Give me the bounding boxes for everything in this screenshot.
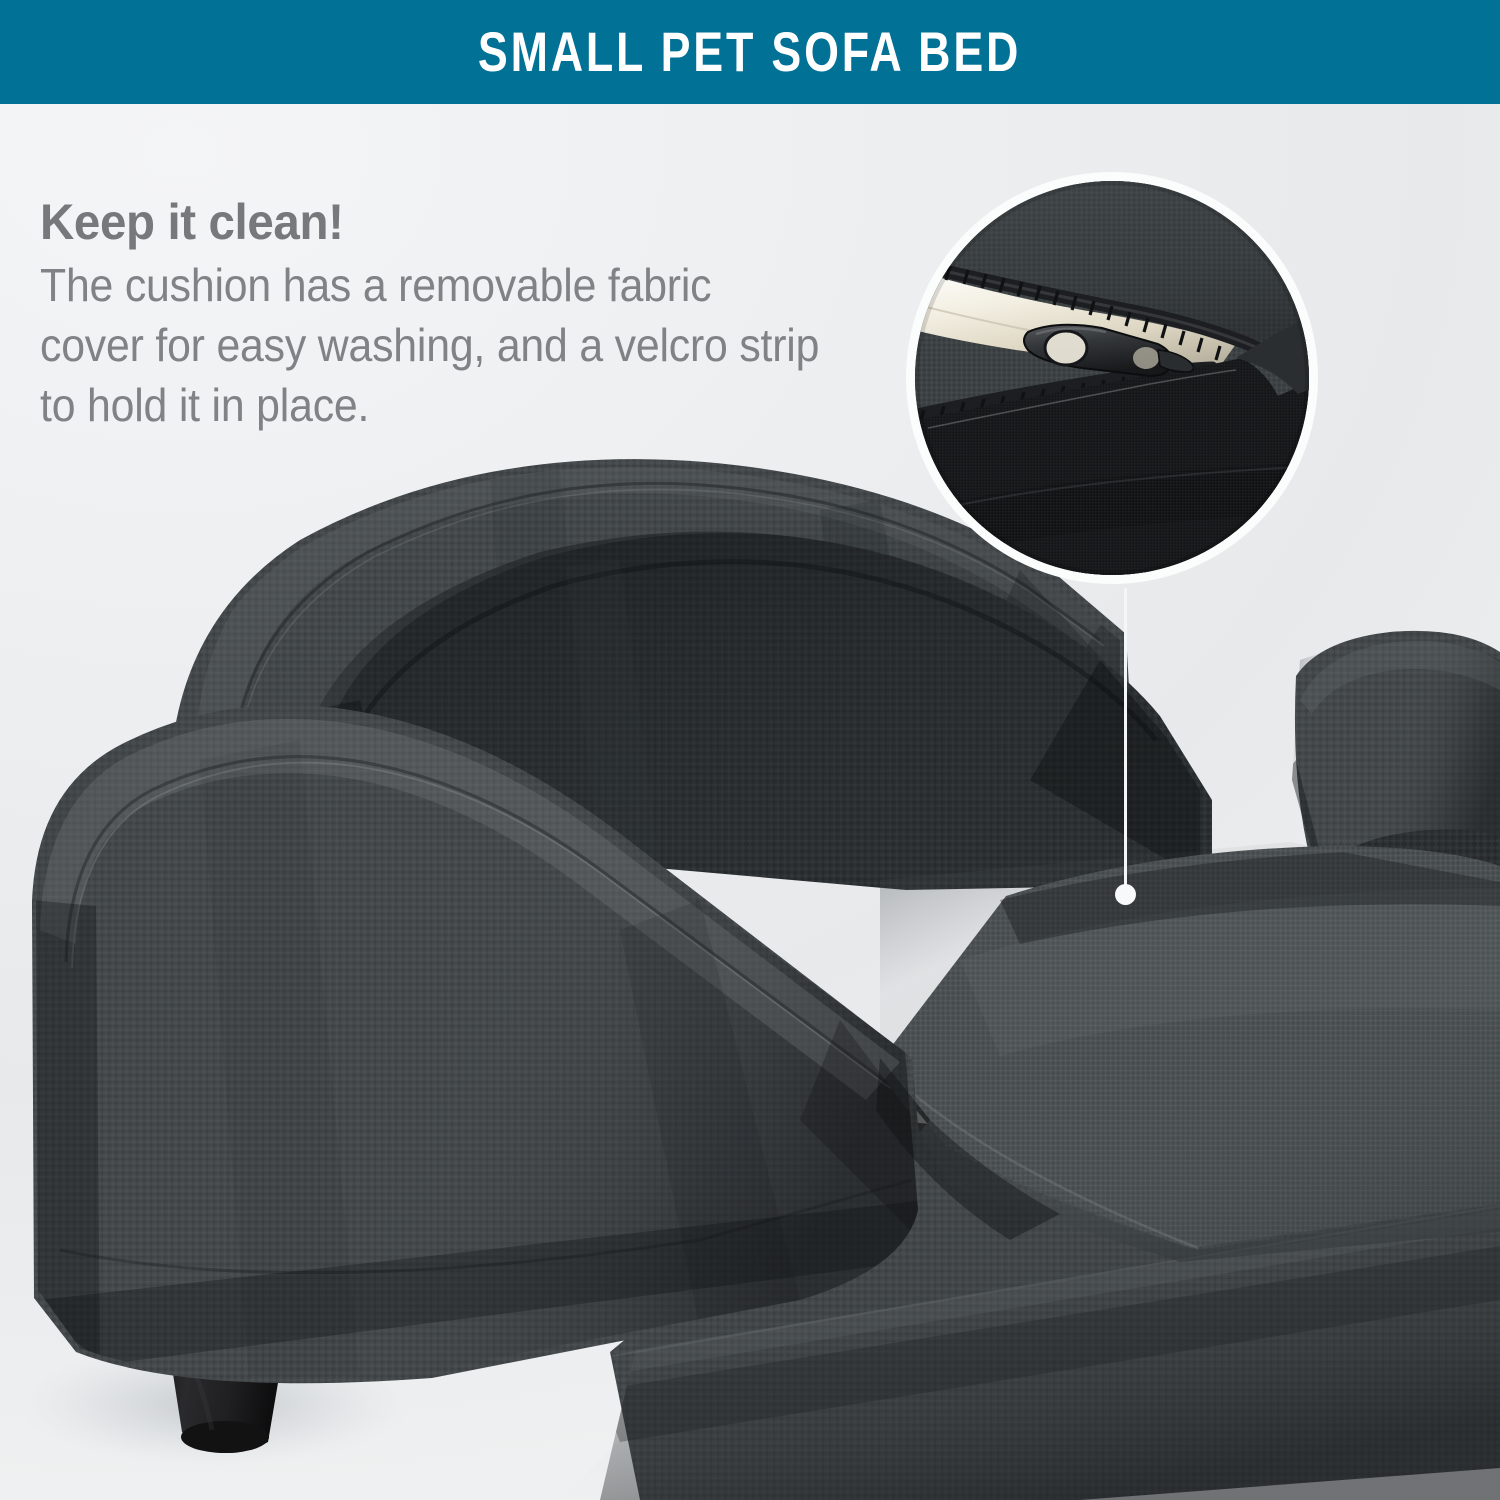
page-title: SMALL PET SOFA BED [478, 24, 1021, 80]
feature-headline: Keep it clean! [40, 196, 838, 249]
feature-text-block: Keep it clean! The cushion has a removab… [40, 196, 880, 435]
product-marketing-image: SMALL PET SOFA BED Keep it clean! The cu… [0, 0, 1500, 1500]
header-banner: SMALL PET SOFA BED [0, 0, 1500, 104]
feature-description: The cushion has a removable fabric cover… [40, 256, 821, 435]
